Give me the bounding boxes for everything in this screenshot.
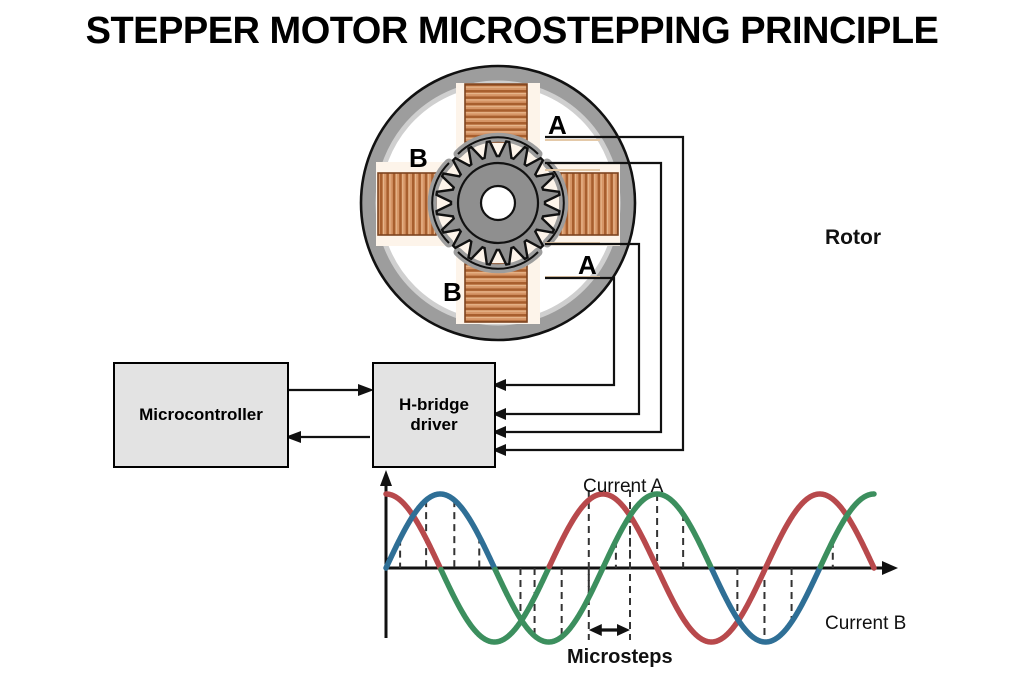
curve-segment-b [441,567,549,642]
current-a-label: Current A [583,476,663,498]
microcontroller-block[interactable]: Microcontroller [113,362,289,468]
pole-label-a-bottom: A [578,250,597,281]
x-axis-arrowhead [882,561,898,575]
coil-b-left [378,173,436,235]
microcontroller-label: Microcontroller [139,405,263,425]
h-bridge-driver-label: H-bridge driver [399,395,469,434]
microsteps-label: Microsteps [567,646,673,669]
h-bridge-label-line1: H-bridge [399,395,469,414]
rotor-shaft-hole [481,186,515,220]
pole-label-b-bottom: B [443,277,462,308]
motor-cross-section-diagram: Rotor [348,58,648,348]
pole-label-a-top: A [548,110,567,141]
motor-svg [348,58,648,348]
rotor-gear [437,142,560,265]
curve-segment-b [658,567,766,642]
h-bridge-label-line2: driver [410,415,457,434]
coil-a-right [560,173,618,235]
microsteps-measure-arrow [589,624,630,636]
curve-segment-b [549,494,657,569]
h-bridge-driver-block[interactable]: H-bridge driver [372,362,496,468]
rotor-label: Rotor [825,226,881,250]
page-title: STEPPER MOTOR MICROSTEPPING PRINCIPLE [0,10,1024,53]
current-b-label: Current B [825,613,906,635]
pole-label-b-left: B [409,143,428,174]
y-axis-arrowhead [380,470,392,486]
curve-segment-b [386,494,441,569]
